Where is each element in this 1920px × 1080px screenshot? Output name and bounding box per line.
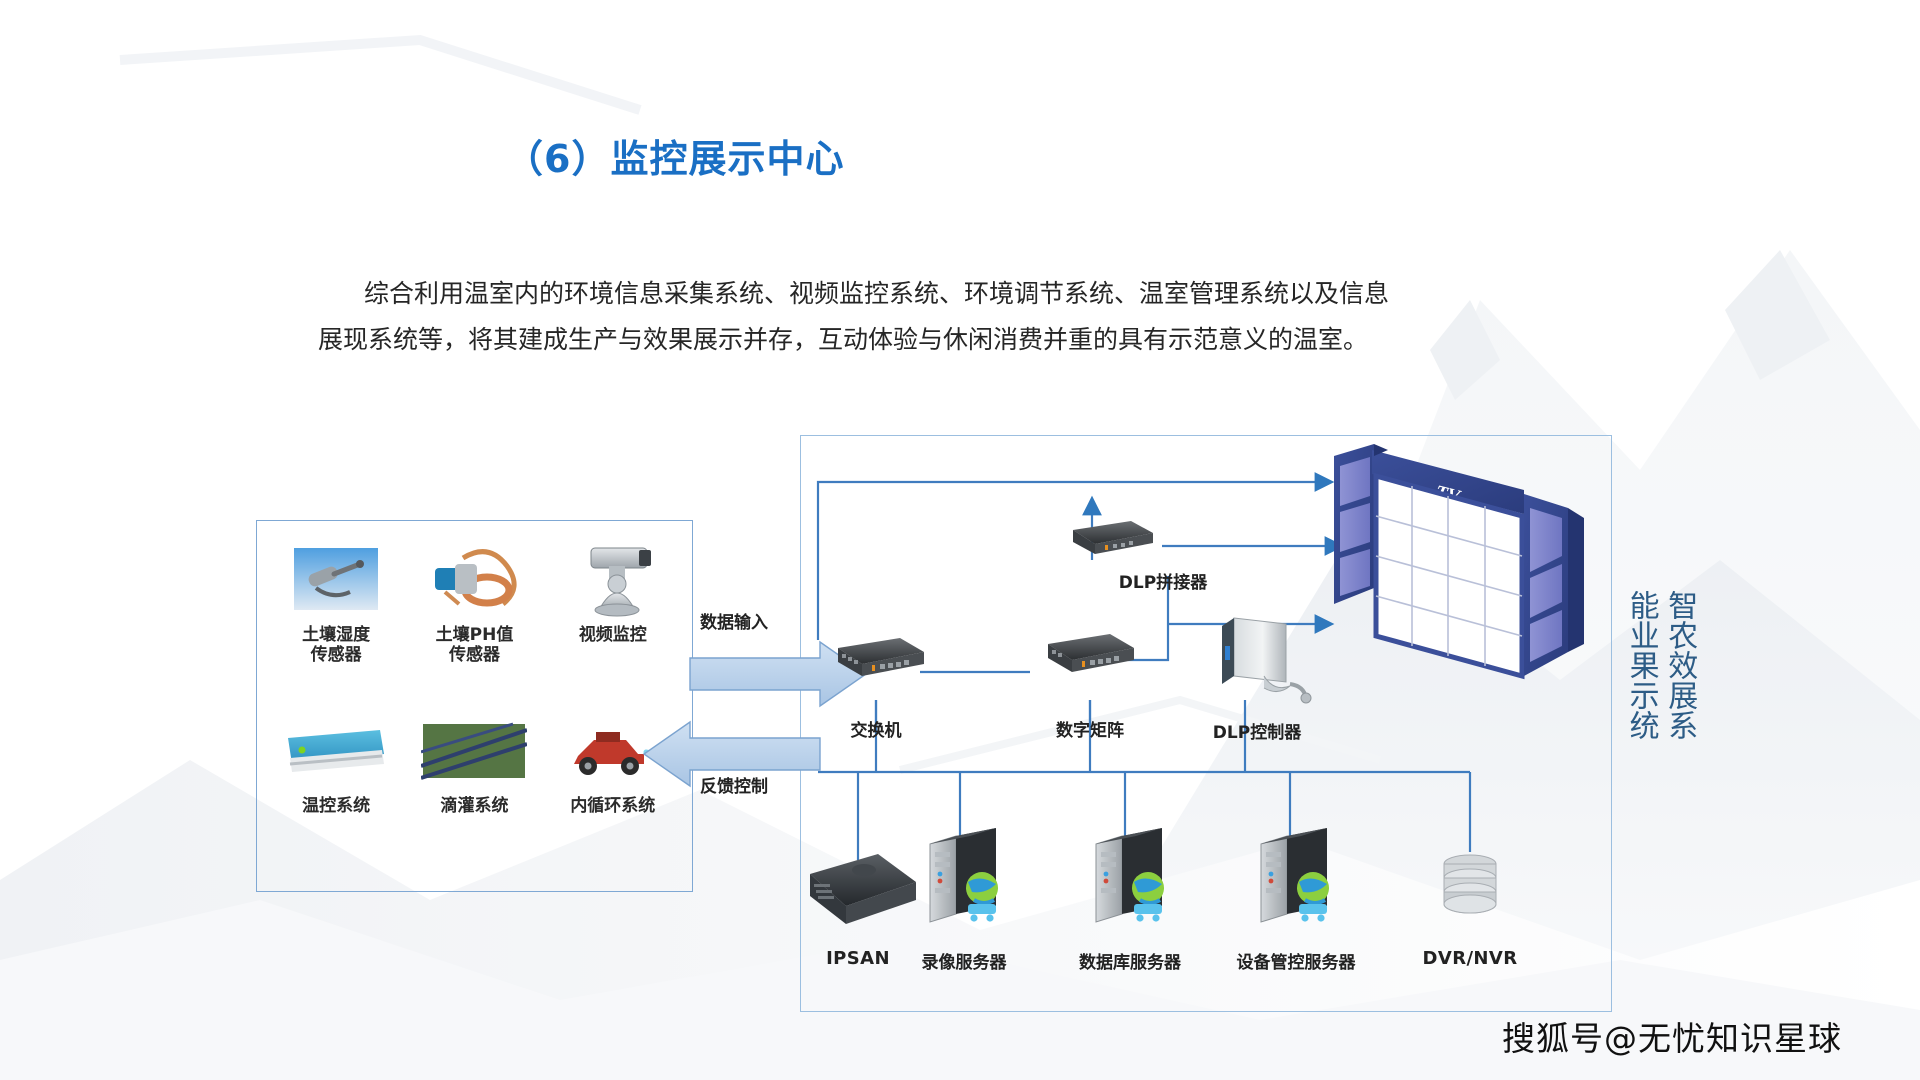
dlp-controller-icon[interactable] [1212, 610, 1316, 706]
page-title: （6）监控展示中心 [505, 128, 844, 183]
network-switch-icon[interactable] [828, 634, 928, 686]
ipsan-storage-icon[interactable] [796, 848, 922, 934]
server-icon[interactable] [912, 826, 1016, 934]
paragraph-line-2: 展现系统等，将其建成生产与效果展示并存，互动体验与休闲消费并重的具有示范意义的温… [318, 318, 1608, 364]
watermark: 搜狐号@无忧知识星球 [1502, 1012, 1842, 1060]
video-wall-icon[interactable]: TV [1328, 438, 1618, 738]
paragraph-line-1: 综合利用温室内的环境信息采集系统、视频监控系统、环境调节系统、温室管理系统以及信… [318, 272, 1608, 318]
digital-matrix-icon[interactable] [1038, 630, 1138, 682]
server-icon[interactable] [1078, 826, 1182, 934]
dlp-splicer-icon[interactable] [1065, 518, 1159, 564]
feedback-control-arrow [644, 722, 820, 786]
body-paragraph: 综合利用温室内的环境信息采集系统、视频监控系统、环境调节系统、温室管理系统以及信… [318, 272, 1608, 365]
server-icon[interactable] [1243, 826, 1347, 934]
disk-stack-icon[interactable] [1430, 848, 1510, 928]
